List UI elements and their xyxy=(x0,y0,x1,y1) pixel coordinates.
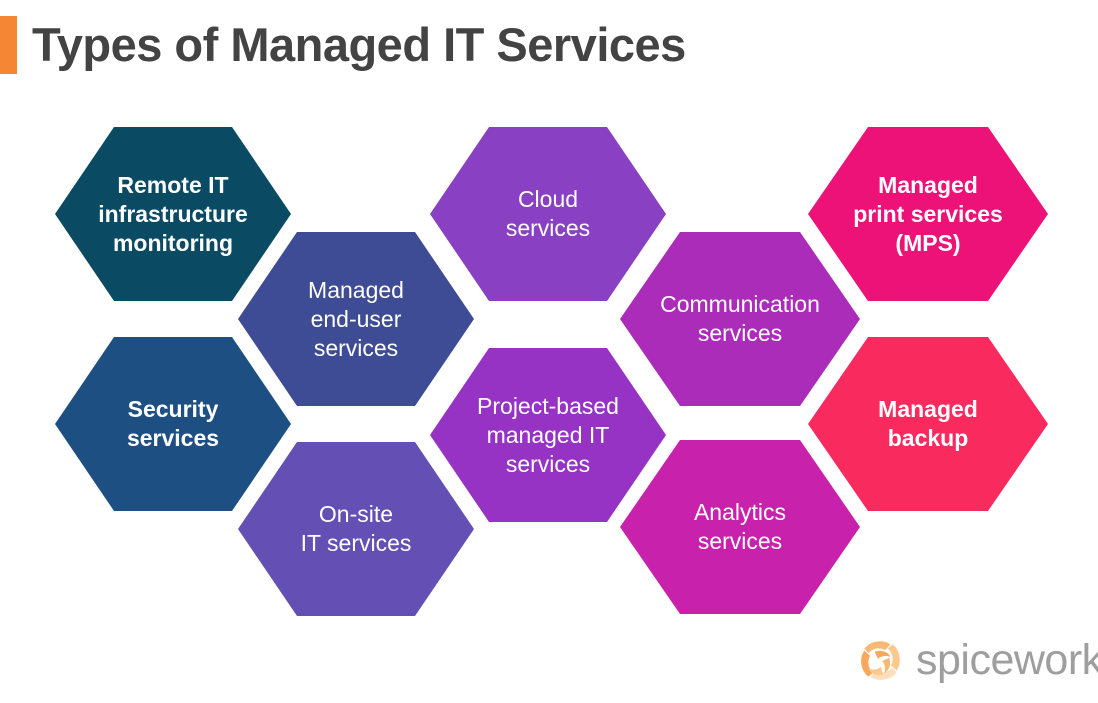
hexagon-label: Managed end-user services xyxy=(300,276,412,363)
hexagon-cloud-services[interactable]: Cloud services xyxy=(430,127,666,301)
hexagon-managed-end-user-services[interactable]: Managed end-user services xyxy=(238,232,474,406)
spiceworks-swirl-icon xyxy=(855,634,907,686)
hexagon-security-services[interactable]: Security services xyxy=(55,337,291,511)
page-title: Types of Managed IT Services xyxy=(32,16,686,74)
hexagon-label: Analytics services xyxy=(686,498,794,556)
hexagon-label: Managed backup xyxy=(870,395,986,453)
hexagon-on-site-it-services[interactable]: On-site IT services xyxy=(238,442,474,616)
spiceworks-wordmark: spiceworks xyxy=(916,637,1098,683)
hexagon-project-based-managed-it-services[interactable]: Project-based managed IT services xyxy=(430,348,666,522)
spiceworks-logo: spiceworks xyxy=(855,630,1091,690)
hexagon-remote-it-infrastructure-monitoring[interactable]: Remote IT infrastructure monitoring xyxy=(55,127,291,301)
page-header: Types of Managed IT Services xyxy=(0,16,686,74)
hexagon-label: Cloud services xyxy=(498,185,598,243)
hexagon-label: Security services xyxy=(119,395,227,453)
hexagon-managed-print-services-mps[interactable]: Managed print services (MPS) xyxy=(808,127,1048,301)
hexagon-label: Remote IT infrastructure monitoring xyxy=(90,171,256,258)
hexagon-label: On-site IT services xyxy=(293,500,420,558)
hexagon-label: Communication services xyxy=(652,290,828,348)
hexagon-analytics-services[interactable]: Analytics services xyxy=(620,440,860,614)
hexagon-managed-backup[interactable]: Managed backup xyxy=(808,337,1048,511)
infographic-canvas: Types of Managed IT Services Remote IT i… xyxy=(0,0,1098,703)
orange-accent-bar xyxy=(0,16,17,74)
hexagon-communication-services[interactable]: Communication services xyxy=(620,232,860,406)
hexagon-label: Project-based managed IT services xyxy=(469,392,627,479)
hexagon-label: Managed print services (MPS) xyxy=(845,171,1011,258)
